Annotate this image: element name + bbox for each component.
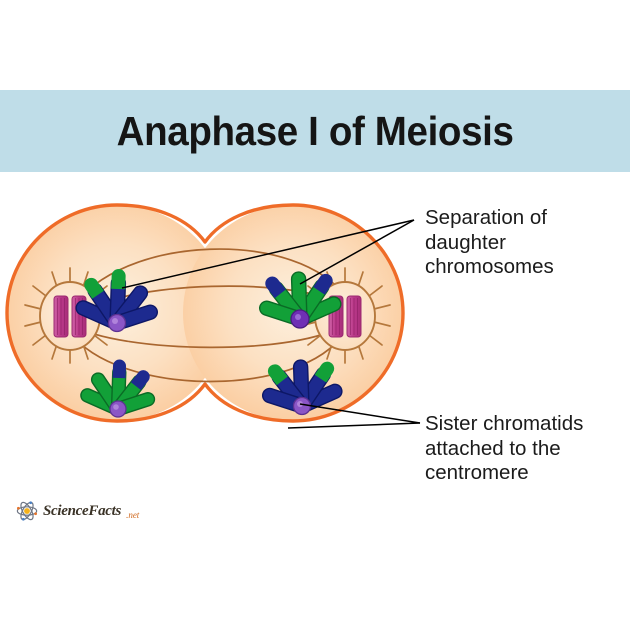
watermark-brand: ScienceFacts [43,503,121,520]
title-banner: Anaphase I of Meiosis [0,90,630,172]
leader-line-sister-b [288,423,420,428]
annotation-separation-of-daughter-chromosomes: Separation of daughter chromosomes [425,206,625,280]
annotation-sister-chromatids-centromere: Sister chromatids attached to the centro… [425,412,630,486]
page-title: Anaphase I of Meiosis [117,108,514,155]
watermark-suffix: .net [126,510,139,522]
cleavage-furrow-bottom-notch [150,444,262,460]
screenshot-canvas: Anaphase I of Meiosis [0,0,630,630]
atom-icon [16,500,38,522]
watermark: ScienceFacts .net [16,500,139,522]
centromere-lower-left [110,401,126,417]
